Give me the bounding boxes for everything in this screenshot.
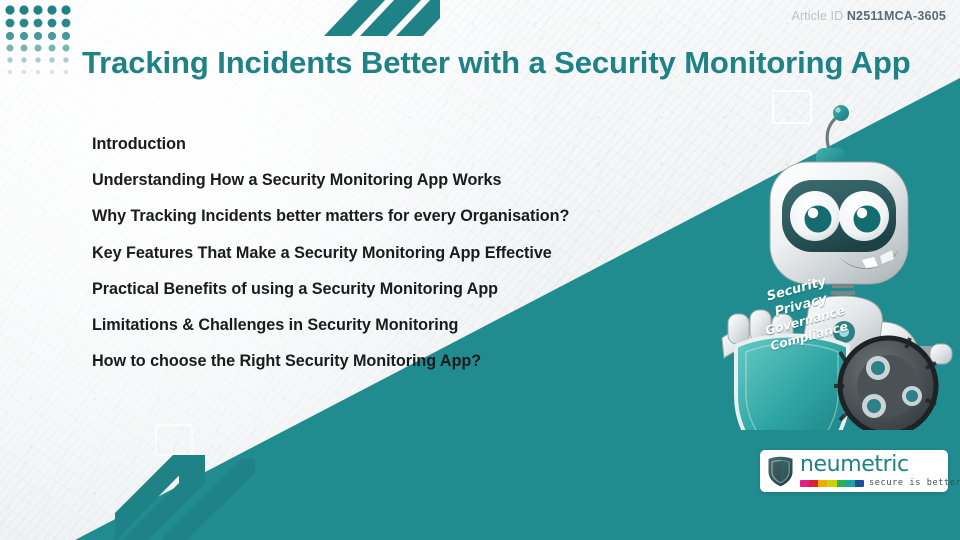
logo-wordmark: neumetric [800, 454, 960, 476]
logo-text-block: neumetric secure is better [800, 454, 960, 488]
robot-mascot [712, 100, 960, 430]
logo-color-bar-segment [855, 480, 864, 487]
article-id: Article ID N2511MCA-3605 [792, 9, 946, 23]
article-id-label: Article ID [792, 9, 844, 23]
toc-item-6[interactable]: Limitations & Challenges in Security Mon… [92, 317, 732, 353]
article-id-value: N2511MCA-3605 [847, 9, 946, 23]
logo-color-bar-segment [837, 480, 846, 487]
logo-color-bar-segment [846, 480, 855, 487]
logo-color-bar-segment [818, 480, 827, 487]
toc-item-2[interactable]: Understanding How a Security Monitoring … [92, 172, 732, 208]
toc-item-4[interactable]: Key Features That Make a Security Monito… [92, 245, 732, 281]
decorative-square-bottom-left [155, 424, 193, 456]
toc-item-1[interactable]: Introduction [92, 136, 732, 172]
page-title: Tracking Incidents Better with a Securit… [82, 43, 912, 83]
diagonal-stripes-bottom [115, 455, 255, 540]
diagonal-stripes-top [324, 0, 440, 36]
logo-color-bar-segment [800, 480, 809, 487]
logo-color-bar-segment [827, 480, 836, 487]
logo-shield-icon [767, 455, 794, 487]
logo-color-bar [800, 480, 864, 487]
toc-item-3[interactable]: Why Tracking Incidents better matters fo… [92, 208, 732, 244]
dot-grid-decoration [4, 4, 76, 82]
logo-bottom-row: secure is better [800, 478, 960, 488]
logo-color-bar-segment [809, 480, 818, 487]
slide-canvas: Article ID N2511MCA-3605 Tracking Incide… [0, 0, 960, 540]
logo-tagline: secure is better [869, 478, 960, 488]
table-of-contents: Introduction Understanding How a Securit… [92, 136, 732, 389]
toc-item-7[interactable]: How to choose the Right Security Monitor… [92, 353, 732, 389]
toc-item-5[interactable]: Practical Benefits of using a Security M… [92, 281, 732, 317]
neumetric-logo[interactable]: neumetric secure is better [760, 450, 948, 492]
